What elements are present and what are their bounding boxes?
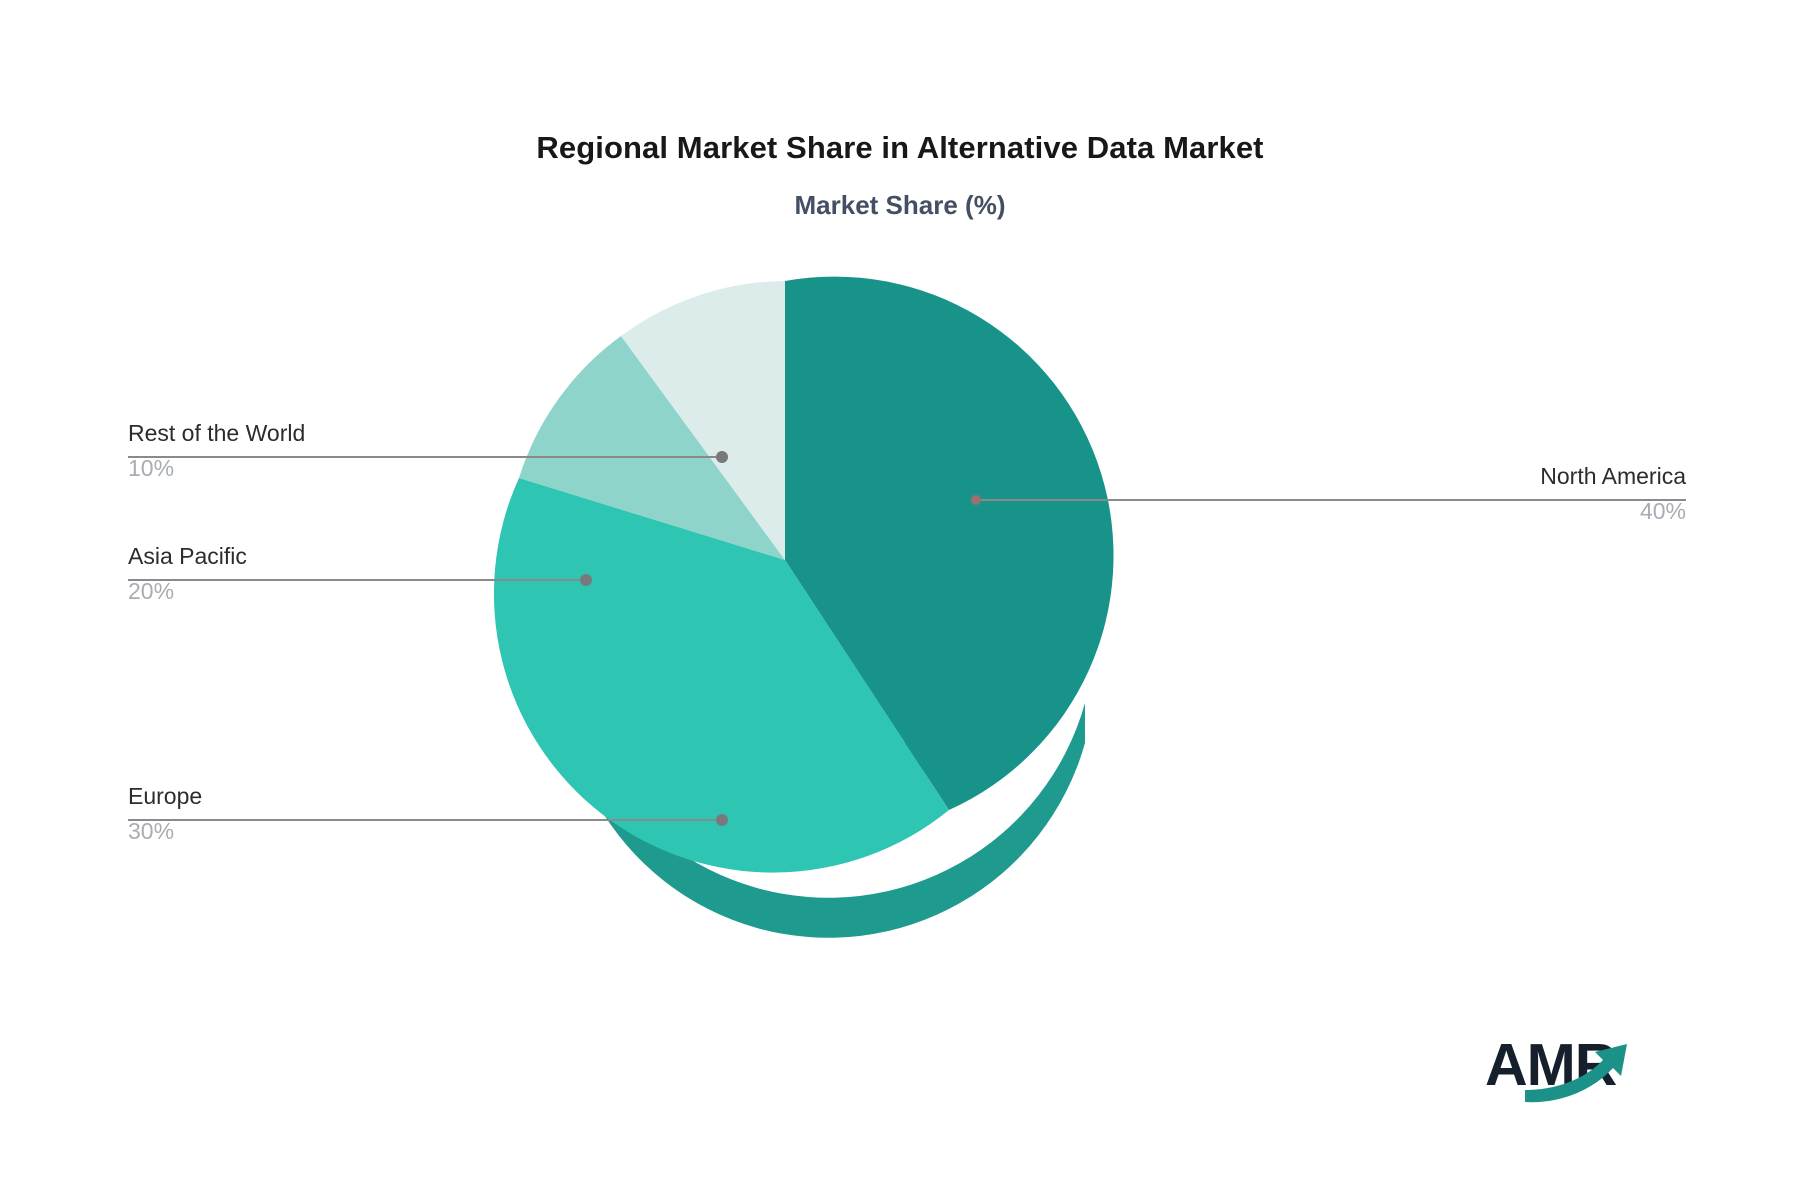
amr-logo: AMR	[1485, 1030, 1670, 1110]
callout-value-rest-of-the-world: 10%	[128, 453, 688, 483]
pie-slice-north-america[interactable]	[785, 277, 1114, 810]
leader-dot-north-america	[971, 495, 981, 505]
chart-subtitle: Market Share (%)	[0, 190, 1800, 221]
chart-title: Regional Market Share in Alternative Dat…	[0, 130, 1800, 166]
amr-logo-arrow-svg	[1485, 1030, 1670, 1110]
callout-value-asia-pacific: 20%	[128, 576, 688, 606]
callout-label-europe: Europe	[128, 781, 688, 811]
pie-3d-side-walls	[562, 412, 1085, 938]
callout-europe[interactable]: Europe 30%	[128, 781, 688, 846]
chart-canvas: Regional Market Share in Alternative Dat…	[0, 0, 1800, 1196]
callout-value-europe: 30%	[128, 816, 688, 846]
callout-label-rest-of-the-world: Rest of the World	[128, 418, 688, 448]
callout-asia-pacific[interactable]: Asia Pacific 20%	[128, 541, 688, 606]
callout-value-north-america: 40%	[1126, 496, 1686, 526]
pie-leader-dots	[580, 451, 981, 826]
callout-rest-of-the-world[interactable]: Rest of the World 10%	[128, 418, 688, 483]
pie-side-europe	[562, 560, 1085, 938]
upward-arrow-icon	[1525, 1044, 1627, 1102]
callout-label-north-america: North America	[1126, 461, 1686, 491]
callout-label-asia-pacific: Asia Pacific	[128, 541, 688, 571]
leader-dot-europe	[716, 814, 728, 826]
pie-side-north-america	[946, 412, 1004, 600]
callout-north-america[interactable]: North America 40%	[1126, 461, 1686, 526]
leader-dot-rest-of-the-world	[716, 451, 728, 463]
